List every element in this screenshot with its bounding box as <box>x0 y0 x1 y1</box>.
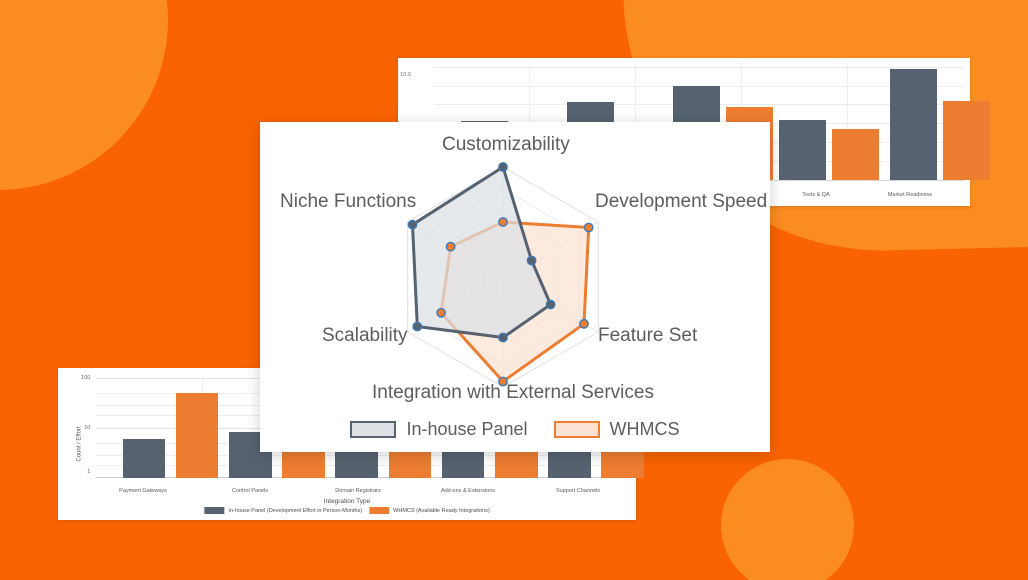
bar-inhouse <box>890 69 938 180</box>
legend-swatch-whmcs <box>554 421 600 438</box>
y-axis-tick-label: 100 <box>81 375 90 381</box>
legend-item-whmcs: WHMCS <box>554 419 680 440</box>
x-axis-tick-label: Market Readiness <box>888 192 932 198</box>
bar-whmcs <box>495 451 538 478</box>
bar-whmcs <box>601 451 644 478</box>
bar-inhouse <box>548 451 591 478</box>
x-axis-tick-label: Payment Gateways <box>119 488 167 494</box>
legend-swatch-whmcs <box>369 507 389 514</box>
legend-label-whmcs: WHMCS <box>610 419 680 440</box>
bar-inhouse <box>335 451 378 478</box>
radar-axis-label-feature-set: Feature Set <box>598 325 697 347</box>
radar-axis-label-customizability: Customizability <box>442 134 570 156</box>
bar-inhouse <box>442 451 485 478</box>
bar-whmcs <box>943 101 991 180</box>
legend-swatch-inhouse-panel <box>350 421 396 438</box>
radar-legend: In-house Panel WHMCS <box>260 419 770 440</box>
bar-whmcs <box>282 451 325 478</box>
poster-canvas: 10.0 Tests & QA Market Readiness Count /… <box>0 0 1028 580</box>
radar-axis-label-integration: Integration with External Services <box>372 382 654 404</box>
radar-axis-label-scalability: Scalability <box>322 325 408 347</box>
radar-area-inhouse <box>413 167 551 338</box>
radar-axis-label-niche-functions: Niche Functions <box>280 191 416 213</box>
legend-label-whmcs: WHMCS (Available Ready Integrations) <box>393 508 490 514</box>
legend-swatch-inhouse <box>204 507 224 514</box>
gridline <box>434 67 964 68</box>
y-axis-tick-label: 1 <box>87 469 90 475</box>
chart-legend: In-house Panel (Development Effort in Pe… <box>204 507 489 514</box>
x-axis-tick-label: Domain Registrars <box>335 488 381 494</box>
y-axis-title: Count / Effort <box>77 426 83 461</box>
y-axis-tick-label: 10 <box>84 425 90 431</box>
chart-card-radar-comparison: Customizability Development Speed Featur… <box>260 122 770 452</box>
x-axis-title: Integration Type <box>324 498 371 505</box>
legend-item-whmcs: WHMCS (Available Ready Integrations) <box>369 507 490 514</box>
legend-item-inhouse: In-house Panel (Development Effort in Pe… <box>204 507 362 514</box>
background-circle-top-left <box>0 0 168 190</box>
bar-whmcs <box>389 451 432 478</box>
bar-inhouse <box>123 439 166 478</box>
legend-label-inhouse: In-house Panel (Development Effort in Pe… <box>228 508 362 514</box>
legend-item-inhouse-panel: In-house Panel <box>350 419 527 440</box>
x-axis-tick-label: Support Channels <box>556 488 600 494</box>
bar-whmcs <box>176 393 219 478</box>
bar-whmcs <box>832 129 880 180</box>
x-axis-tick-label: Add-ons & Extensions <box>441 488 495 494</box>
x-axis-tick-label: Tests & QA <box>802 192 830 198</box>
x-axis-tick-label: Control Panels <box>232 488 268 494</box>
radar-axis-label-development-speed: Development Speed <box>595 191 767 213</box>
background-circle-bottom-right <box>721 459 854 580</box>
legend-label-inhouse-panel: In-house Panel <box>406 419 527 440</box>
bar-inhouse <box>779 120 827 180</box>
y-axis-tick-label: 10.0 <box>400 72 411 78</box>
